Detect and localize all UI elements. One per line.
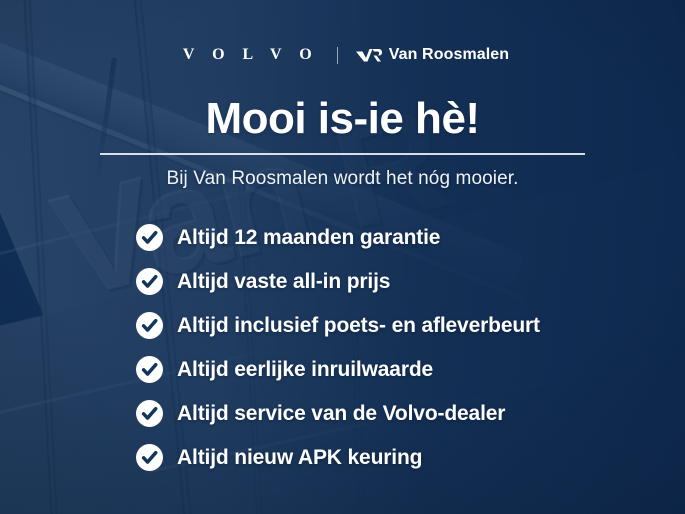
promo-banner: Van R V O L V O Van Roosmalen Mooi is-ie… xyxy=(0,0,685,514)
benefits-list: Altijd 12 maanden garantie Altijd vaste … xyxy=(136,224,665,471)
headline-divider xyxy=(100,153,585,155)
list-item: Altijd 12 maanden garantie xyxy=(136,224,665,251)
benefit-label: Altijd service van de Volvo-dealer xyxy=(177,403,505,424)
benefit-label: Altijd eerlijke inruilwaarde xyxy=(177,359,433,380)
list-item: Altijd eerlijke inruilwaarde xyxy=(136,356,665,383)
check-circle-icon xyxy=(136,400,163,427)
benefit-label: Altijd 12 maanden garantie xyxy=(177,227,440,248)
benefit-label: Altijd nieuw APK keuring xyxy=(177,447,422,468)
headline: Mooi is-ie hè! xyxy=(0,96,685,142)
brand-divider xyxy=(337,47,338,64)
list-item: Altijd vaste all-in prijs xyxy=(136,268,665,295)
check-circle-icon xyxy=(136,312,163,339)
list-item: Altijd service van de Volvo-dealer xyxy=(136,400,665,427)
list-item: Altijd nieuw APK keuring xyxy=(136,444,665,471)
list-item: Altijd inclusief poets- en afleverbeurt xyxy=(136,312,665,339)
check-circle-icon xyxy=(136,268,163,295)
benefit-label: Altijd inclusief poets- en afleverbeurt xyxy=(177,315,540,336)
check-circle-icon xyxy=(136,224,163,251)
check-circle-icon xyxy=(136,444,163,471)
vr-monogram-icon xyxy=(356,48,382,63)
benefit-label: Altijd vaste all-in prijs xyxy=(177,271,390,292)
check-circle-icon xyxy=(136,356,163,383)
dealer-lockup: Van Roosmalen xyxy=(356,47,509,63)
brand-lockup: V O L V O Van Roosmalen xyxy=(0,42,685,68)
dealer-name: Van Roosmalen xyxy=(389,47,509,63)
subheadline: Bij Van Roosmalen wordt het nóg mooier. xyxy=(0,168,685,190)
volvo-wordmark: V O L V O xyxy=(176,47,319,63)
